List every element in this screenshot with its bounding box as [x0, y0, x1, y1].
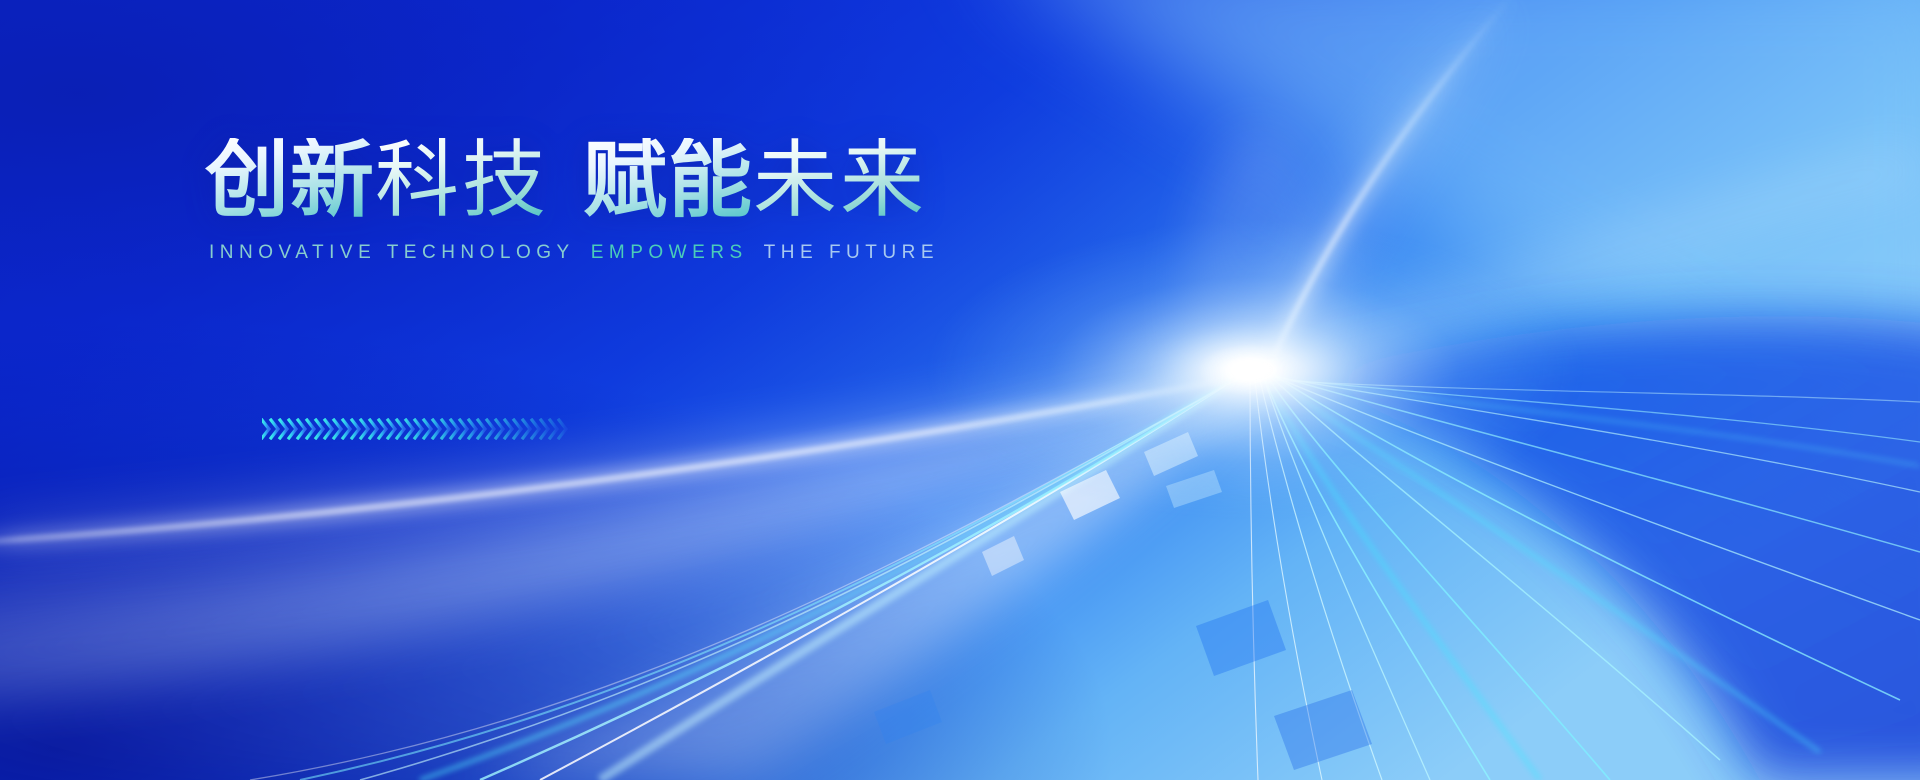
headline-segment-1: 创新	[205, 138, 375, 222]
subheadline-segment-1: INNOVATIVE TECHNOLOGY	[209, 242, 575, 264]
tech-banner-keyvisual: 创新 科技 赋能 未来 INNOVATIVE TECHNOLOGY EMPOWE…	[0, 0, 1920, 780]
headline-segment-4: 未来	[753, 138, 927, 222]
headline-segment-3: 赋能	[583, 138, 753, 222]
light-bloom-vertical	[1188, 130, 1328, 470]
subheadline-segment-2: EMPOWERS	[591, 242, 748, 264]
subheadline: INNOVATIVE TECHNOLOGY EMPOWERS THE FUTUR…	[209, 242, 1165, 264]
headline-segment-2: 科技	[375, 138, 549, 222]
background-artwork	[0, 0, 1920, 780]
chevron-right-repeat-icon	[262, 414, 592, 444]
subheadline-segment-3: THE FUTURE	[764, 242, 939, 264]
headline: 创新 科技 赋能 未来	[205, 138, 1165, 222]
copy-block: 创新 科技 赋能 未来 INNOVATIVE TECHNOLOGY EMPOWE…	[205, 138, 1165, 264]
